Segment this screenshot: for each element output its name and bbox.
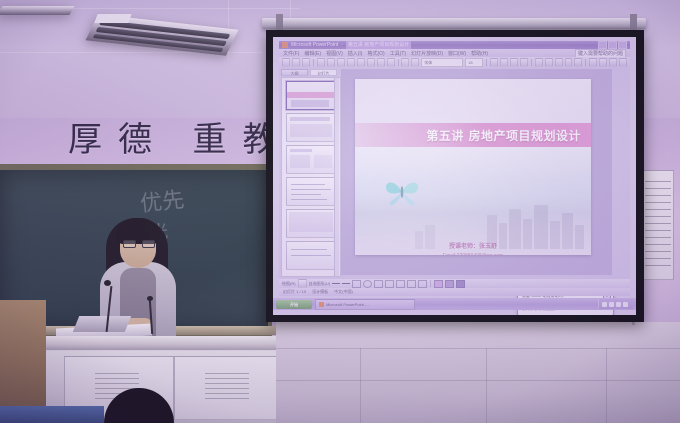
- powerpoint-menubar: 文件(F) 编辑(E) 视图(V) 插入(I) 格式(O) 工具(T) 幻灯片放…: [279, 49, 630, 57]
- fill-color-icon[interactable]: [434, 280, 443, 288]
- student-desk: [0, 406, 104, 423]
- menu-item-tools[interactable]: 工具(T): [390, 50, 406, 57]
- light-endcap: [94, 14, 131, 23]
- increase-font-icon[interactable]: [589, 58, 597, 67]
- font-name-combo[interactable]: 宋体: [421, 58, 463, 67]
- ceiling-light-fixture-secondary: [0, 6, 75, 15]
- volume-icon[interactable]: [602, 302, 607, 307]
- slide-subtitle-block: 授课老师：张玉舒 Email:229889408@qq.com: [355, 243, 591, 255]
- numbering-icon[interactable]: [574, 58, 582, 67]
- open-icon[interactable]: [292, 58, 300, 67]
- tab-slides[interactable]: 幻灯片: [310, 69, 337, 76]
- status-design-template: 设计模板: [312, 289, 328, 295]
- copy-icon[interactable]: [357, 58, 365, 67]
- diagram-icon[interactable]: [396, 280, 405, 288]
- rectangle-icon[interactable]: [352, 280, 361, 288]
- menu-help-search-box[interactable]: 键入需要帮助的问题: [575, 49, 626, 57]
- status-slide-counter: 幻灯片 1 / 19: [283, 289, 306, 295]
- network-icon[interactable]: [609, 302, 614, 307]
- presenter-name-line: 授课老师：张玉舒: [355, 243, 591, 252]
- projected-screen: Microsoft PowerPoint - 第五讲 房地产项目规划设计 文件(…: [273, 37, 636, 315]
- insert-table-icon[interactable]: [401, 58, 409, 67]
- font-color-icon[interactable]: [456, 280, 465, 288]
- redo-icon[interactable]: [387, 58, 395, 67]
- menu-item-edit[interactable]: 编辑(E): [304, 50, 321, 57]
- slide-title-text: 第五讲 房地产项目规划设计: [426, 127, 591, 144]
- current-slide[interactable]: 第五讲 房地产项目规划设计: [355, 79, 591, 255]
- restore-button[interactable]: [608, 41, 617, 49]
- projector-screen-roller[interactable]: [262, 18, 646, 29]
- slide-thumbnail[interactable]: [286, 81, 335, 110]
- new-slide-icon[interactable]: [619, 58, 627, 67]
- podium-cabinet-door-right[interactable]: [174, 356, 284, 420]
- toolbar-separator: [313, 59, 314, 66]
- toolbar-separator: [398, 59, 399, 66]
- tab-outline[interactable]: 大纲: [281, 69, 308, 76]
- toolbar-separator: [531, 59, 532, 66]
- app-icon: [282, 42, 288, 48]
- windows-taskbar: 开始 Microsoft PowerPoint -...: [273, 298, 636, 310]
- slide-title-band: 第五讲 房地产项目规划设计: [355, 123, 591, 147]
- close-button[interactable]: [618, 41, 627, 49]
- powerpoint-toolbar: 宋体 18: [279, 57, 630, 67]
- window-controls: [598, 41, 627, 49]
- menu-item-format[interactable]: 格式(O): [367, 50, 384, 57]
- align-center-icon[interactable]: [545, 58, 553, 67]
- menu-item-insert[interactable]: 插入(I): [348, 50, 363, 57]
- powerpoint-workspace: 大纲 幻灯片: [279, 67, 630, 279]
- presenter-glasses-left: [123, 240, 136, 248]
- taskbar-button-powerpoint[interactable]: Microsoft PowerPoint -...: [315, 299, 415, 310]
- presenter-glasses-right: [142, 240, 155, 248]
- picture-icon[interactable]: [418, 280, 427, 288]
- powerpoint-window: Microsoft PowerPoint - 第五讲 房地产项目规划设计 文件(…: [273, 37, 636, 315]
- menu-item-window[interactable]: 窗口(W): [448, 50, 466, 57]
- spelling-icon[interactable]: [337, 58, 345, 67]
- arrow-icon[interactable]: [342, 283, 350, 284]
- status-bar: 幻灯片 1 / 19 设计模板 中文(中国): [279, 288, 630, 296]
- wall-motto: 厚德 重教: [68, 112, 293, 161]
- taskbar-button-label: Microsoft PowerPoint -...: [326, 300, 370, 309]
- shadow-icon[interactable]: [520, 58, 528, 67]
- word-art-icon[interactable]: [385, 280, 394, 288]
- laptop: [73, 316, 131, 332]
- podium-desktop: [36, 336, 280, 350]
- menu-item-view[interactable]: 视图(V): [326, 50, 343, 57]
- text-box-icon[interactable]: [374, 280, 383, 288]
- paste-icon[interactable]: [367, 58, 375, 67]
- toolbar-separator: [430, 280, 431, 287]
- print-preview-icon[interactable]: [327, 58, 335, 67]
- presenter-email-line: Email:229889408@qq.com: [355, 252, 591, 255]
- start-button[interactable]: 开始: [276, 300, 312, 309]
- drawing-toolbar: 绘图(R) 自选图形(U): [279, 279, 630, 288]
- print-icon[interactable]: [317, 58, 325, 67]
- slide-editing-area: 第五讲 房地产项目规划设计: [341, 69, 612, 275]
- menu-item-file[interactable]: 文件(F): [283, 50, 299, 57]
- slide-thumbnail[interactable]: [286, 241, 335, 270]
- underline-icon[interactable]: [510, 58, 518, 67]
- powerpoint-titlebar: Microsoft PowerPoint - 第五讲 房地产项目规划设计: [279, 41, 630, 49]
- microphone-head-2: [147, 296, 153, 301]
- toolbar-separator: [486, 59, 487, 66]
- slide-thumbnail[interactable]: [286, 113, 335, 142]
- line-color-icon[interactable]: [445, 280, 454, 288]
- align-left-icon[interactable]: [535, 58, 543, 67]
- microphone-head: [104, 280, 111, 286]
- autoshapes-menu-label[interactable]: 自选图形(U): [309, 281, 331, 287]
- select-objects-icon[interactable]: [298, 279, 307, 288]
- wall-poster: [642, 170, 674, 280]
- minimize-button[interactable]: [598, 41, 607, 49]
- status-language: 中文(中国): [334, 289, 353, 295]
- floor: [276, 322, 680, 423]
- system-tray: [598, 299, 633, 309]
- antivirus-icon[interactable]: [623, 302, 628, 307]
- titlebar-app-name: Microsoft PowerPoint: [291, 41, 338, 49]
- menu-item-slideshow[interactable]: 幻灯片放映(D): [411, 50, 443, 57]
- titlebar-document-name: 第五讲 房地产项目规划设计: [346, 41, 411, 49]
- new-icon[interactable]: [282, 58, 290, 67]
- slide-photo: 授课老师：张玉舒 Email:229889408@qq.com: [355, 147, 591, 255]
- slide-thumbnail[interactable]: [286, 209, 335, 238]
- drawing-menu-label[interactable]: 绘图(R): [282, 281, 296, 287]
- side-cabinet: [0, 300, 46, 423]
- align-right-icon[interactable]: [555, 58, 563, 67]
- ime-icon[interactable]: [616, 302, 621, 307]
- slide-thumbnail[interactable]: [286, 145, 335, 174]
- undo-icon[interactable]: [377, 58, 385, 67]
- oval-icon[interactable]: [363, 280, 372, 288]
- butterfly-icon: [383, 177, 421, 207]
- bold-icon[interactable]: [490, 58, 498, 67]
- font-size-combo[interactable]: 18: [465, 58, 483, 67]
- bullets-icon[interactable]: [565, 58, 573, 67]
- cut-icon[interactable]: [347, 58, 355, 67]
- powerpoint-taskbar-icon: [319, 302, 324, 307]
- design-icon[interactable]: [609, 58, 617, 67]
- slide-thumbnail-pane[interactable]: [281, 77, 341, 277]
- menu-item-help[interactable]: 帮助(H): [471, 50, 488, 57]
- toolbar-separator: [585, 59, 586, 66]
- thumbnail-scrollbar[interactable]: [334, 78, 339, 276]
- titlebar-separator: -: [341, 41, 343, 49]
- decrease-font-icon[interactable]: [599, 58, 607, 67]
- clip-art-icon[interactable]: [407, 280, 416, 288]
- italic-icon[interactable]: [500, 58, 508, 67]
- slide-upper-blank: [355, 79, 591, 123]
- classroom-presentation-photo: 厚德 重教 优先 光: [0, 0, 680, 423]
- insert-chart-icon[interactable]: [411, 58, 419, 67]
- slide-thumbnail[interactable]: [286, 177, 335, 206]
- outline-pane-tabs: 大纲 幻灯片: [281, 69, 337, 76]
- save-icon[interactable]: [302, 58, 310, 67]
- chalk-writing: 优先: [138, 182, 185, 218]
- line-icon[interactable]: [332, 283, 340, 284]
